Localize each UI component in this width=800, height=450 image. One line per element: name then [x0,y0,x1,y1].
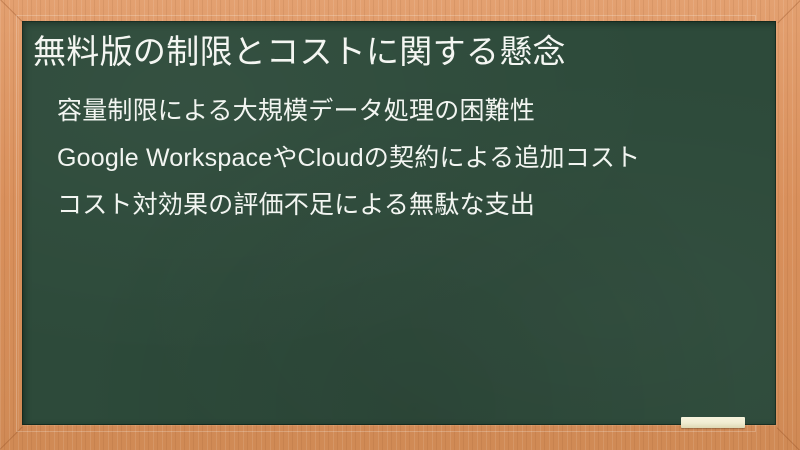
frame-miter-bottom-left [0,427,23,450]
list-item: コスト対効果の評価不足による無駄な支出 [57,185,700,225]
frame-miter-bottom-right [777,427,800,450]
list-item: Google WorkspaceやCloudの契約による追加コスト [57,138,700,178]
page-title: 無料版の制限とコストに関する懸念 [30,32,750,72]
bullet-list: 容量制限による大規模データ処理の困難性 Google WorkspaceやClo… [30,91,750,225]
list-item: 容量制限による大規模データ処理の困難性 [57,91,700,131]
chalkboard-surface: 無料版の制限とコストに関する懸念 容量制限による大規模データ処理の困難性 Goo… [22,21,776,425]
frame-miter-top-right [777,0,800,23]
chalk-stick-icon [681,417,745,428]
chalkboard-slide: 無料版の制限とコストに関する懸念 容量制限による大規模データ処理の困難性 Goo… [0,0,800,450]
slide-content: 無料版の制限とコストに関する懸念 容量制限による大規模データ処理の困難性 Goo… [22,21,776,225]
frame-miter-top-left [0,0,23,23]
